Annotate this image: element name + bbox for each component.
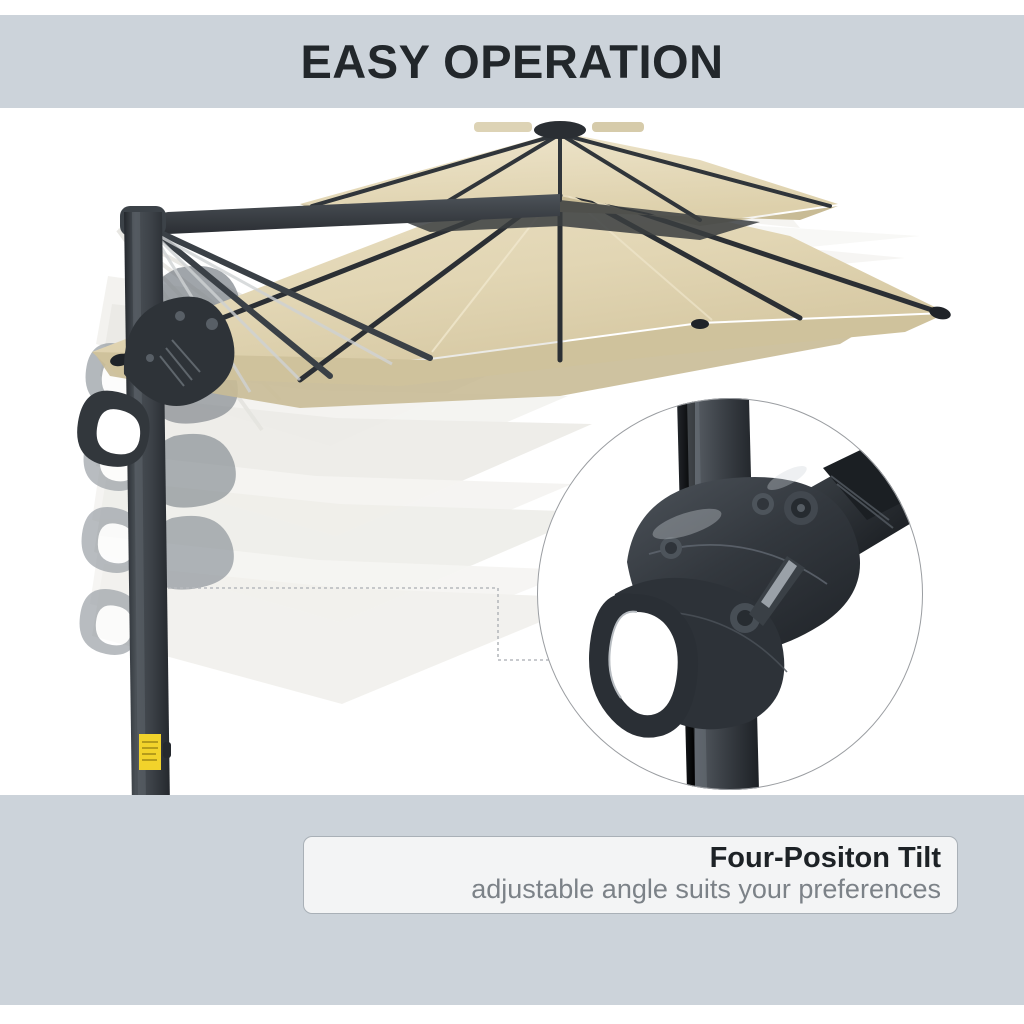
feature-title: Four-Positon Tilt [304, 843, 941, 874]
product-infographic-page: EASY OPERATION [0, 0, 1024, 1024]
page-title: EASY OPERATION [300, 38, 723, 85]
umbrella-pole [124, 212, 170, 808]
canopy-finial [474, 121, 644, 139]
header-banner: EASY OPERATION [0, 15, 1024, 108]
tilt-hinge-detail-callout [537, 398, 923, 790]
callout-leader-line [150, 560, 570, 680]
feature-subtitle: adjustable angle suits your preferences [304, 874, 941, 904]
feature-caption-box: Four-Positon Tilt adjustable angle suits… [303, 836, 958, 914]
